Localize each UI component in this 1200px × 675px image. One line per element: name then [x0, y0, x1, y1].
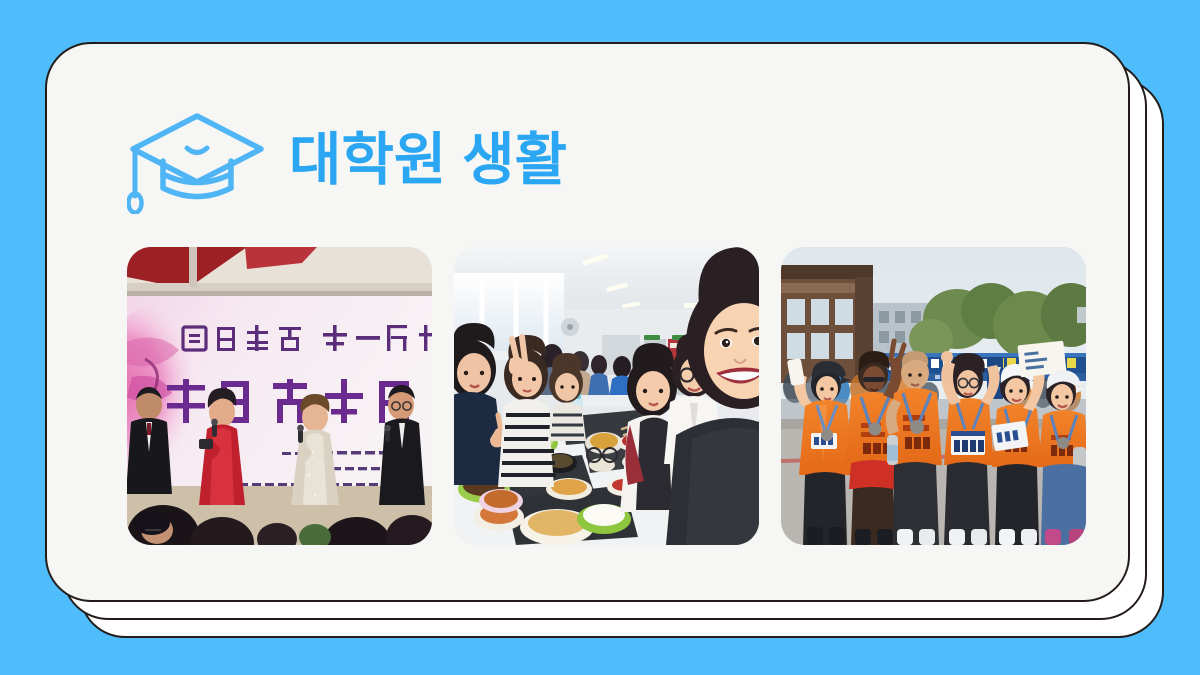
photo-cafeteria-selfie[interactable] [454, 247, 759, 545]
card-stack: 대학원 생활 [45, 42, 1130, 602]
graduation-cap-icon [127, 106, 267, 214]
content-card: 대학원 생활 [45, 42, 1130, 602]
header: 대학원 생활 [127, 106, 567, 214]
page-title: 대학원 생활 [289, 132, 567, 189]
photo-gallery [127, 247, 1086, 545]
photo-stage-ceremony[interactable] [127, 247, 432, 545]
photo-marathon-group[interactable] [781, 247, 1086, 545]
